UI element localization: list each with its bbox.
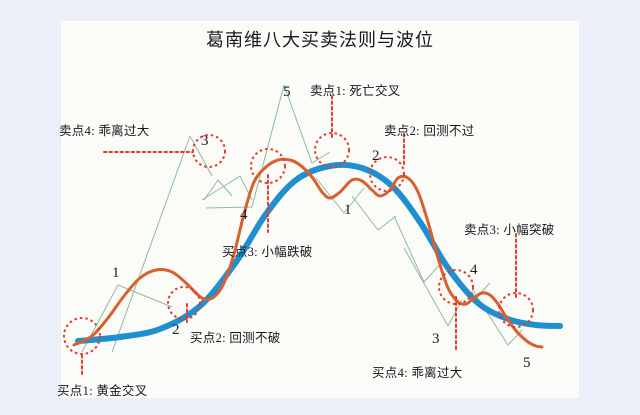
- signal-circle-m-buy-1[interactable]: 买点1: 黄金交叉: [64, 318, 100, 354]
- zigzag-segment: [202, 176, 252, 200]
- zigzag-segment: [352, 196, 396, 230]
- signal-circle-m-sell-1[interactable]: 卖点1: 死亡交叉: [315, 133, 349, 167]
- chart-canvas: 买点1: 黄金交叉买点2: 回测不破卖点4: 乖离过大买点3: 小幅跌破卖点1:…: [0, 0, 640, 415]
- anno-sell-4: 卖点4: 乖离过大: [59, 120, 150, 139]
- wave-number-w-mid-4: 4: [240, 207, 248, 224]
- wave-number-w-right-4: 4: [470, 262, 478, 279]
- zigzag-segment: [112, 136, 212, 352]
- wave-number-w-right-5: 5: [523, 355, 531, 372]
- ma-curve: [78, 165, 560, 341]
- wave-number-w-mid-5: 5: [283, 84, 291, 101]
- moving-average-line: [78, 165, 560, 341]
- wave-number-w-mid-3: 3: [201, 133, 209, 150]
- anno-buy-2: 买点2: 回测不破: [190, 327, 281, 346]
- wave-number-w-left-2: 2: [172, 322, 180, 339]
- zigzag-segment: [404, 248, 462, 326]
- wave-number-w-left-1: 1: [112, 265, 120, 282]
- anno-sell-3: 卖点3: 小幅突破: [464, 219, 555, 238]
- wave-number-w-right-3: 3: [432, 331, 440, 348]
- wave-number-w-mid-1: 1: [344, 202, 352, 219]
- anno-buy-3: 买点3: 小幅跌破: [222, 241, 313, 260]
- anno-buy-4: 买点4: 乖离过大: [372, 362, 463, 381]
- wave-number-w-mid-2: 2: [372, 148, 380, 165]
- anno-buy-1: 买点1: 黄金交叉: [57, 380, 148, 399]
- anno-sell-1: 卖点1: 死亡交叉: [310, 80, 401, 99]
- anno-sell-2: 卖点2: 回测不过: [384, 120, 475, 139]
